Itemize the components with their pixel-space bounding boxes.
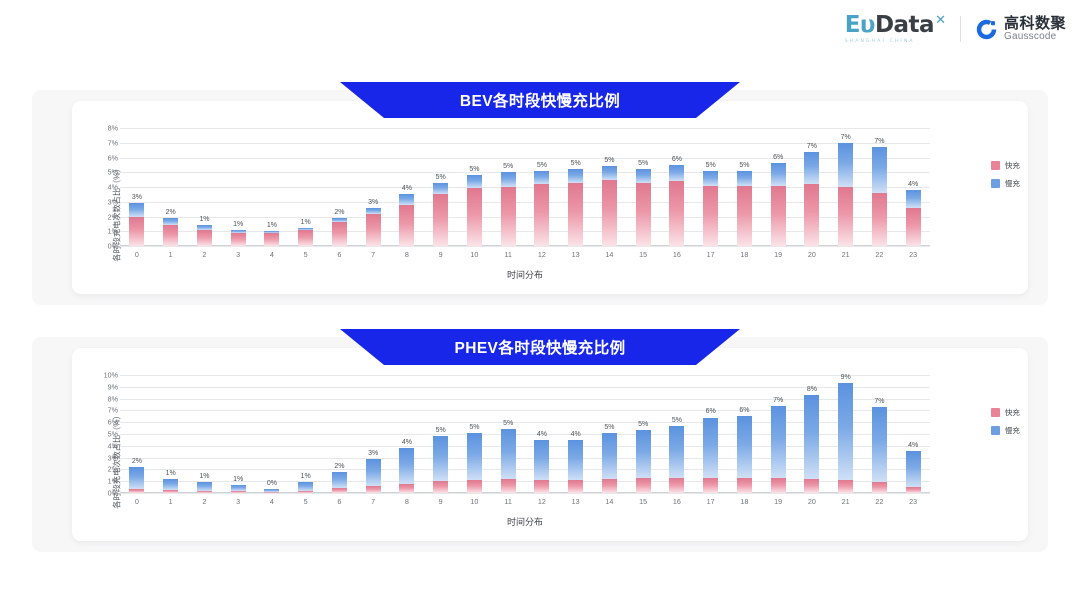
bar-column[interactable]: 3% <box>120 128 154 246</box>
x-tick-label: 9 <box>424 250 458 259</box>
bar-segment-fast-charge <box>332 222 347 246</box>
bar-value-label: 7% <box>874 398 884 405</box>
stacked-bar[interactable]: 6% <box>737 416 752 493</box>
evdata-x-icon: ✕ <box>935 13 946 26</box>
bar-column[interactable]: 7% <box>795 128 829 246</box>
bar-segment-fast-charge <box>636 478 651 493</box>
y-tick-label: 4% <box>108 441 118 450</box>
stacked-bar[interactable]: 0% <box>264 489 279 493</box>
x-tick-label: 22 <box>863 497 897 506</box>
bar-segment-slow-charge <box>906 190 921 208</box>
stacked-bar[interactable]: 2% <box>163 218 178 246</box>
bev-chart: 各时段充电次数占比（%） 0%1%2%3%4%5%6%7%8% 3%2%1%1%… <box>32 120 1048 305</box>
bar-value-label: 4% <box>402 439 412 446</box>
bar-value-label: 4% <box>908 181 918 188</box>
x-tick-label: 11 <box>491 250 525 259</box>
x-tick-label: 12 <box>525 250 559 259</box>
bar-segment-fast-charge <box>534 480 549 493</box>
bar-column[interactable]: 5% <box>458 375 492 493</box>
slow-charge-swatch-icon <box>991 179 1000 188</box>
bar-segment-fast-charge <box>703 478 718 493</box>
bar-column[interactable]: 0% <box>255 375 289 493</box>
bar-column[interactable]: 5% <box>559 128 593 246</box>
bar-segment-slow-charge <box>568 169 583 182</box>
y-tick-label: 3% <box>108 453 118 462</box>
x-tick-label: 15 <box>626 497 660 506</box>
x-tick-label: 15 <box>626 250 660 259</box>
bar-column[interactable]: 4% <box>559 375 593 493</box>
bar-value-label: 4% <box>571 431 581 438</box>
bar-column[interactable]: 7% <box>761 375 795 493</box>
x-tick-label: 6 <box>323 497 357 506</box>
stacked-bar[interactable]: 1% <box>163 479 178 493</box>
bar-segment-fast-charge <box>332 488 347 493</box>
bar-segment-slow-charge <box>636 430 651 477</box>
bar-segment-fast-charge <box>737 478 752 493</box>
gausscode-logo: 高科数聚 Gausscode <box>975 16 1066 42</box>
stacked-bar[interactable]: 7% <box>838 143 853 246</box>
bar-segment-fast-charge <box>163 225 178 246</box>
bev-legend-label-slow: 慢充 <box>1005 178 1020 189</box>
bar-column[interactable]: 5% <box>424 128 458 246</box>
stacked-bar[interactable]: 6% <box>703 417 718 493</box>
bar-column[interactable]: 6% <box>660 128 694 246</box>
bar-segment-fast-charge <box>804 479 819 493</box>
bar-segment-fast-charge <box>669 181 684 246</box>
y-tick-label: 7% <box>108 406 118 415</box>
bar-segment-slow-charge <box>703 418 718 478</box>
bar-value-label: 5% <box>638 160 648 167</box>
bar-value-label: 8% <box>807 386 817 393</box>
bar-value-label: 1% <box>199 473 209 480</box>
x-tick-label: 17 <box>694 250 728 259</box>
bar-value-label: 5% <box>503 163 513 170</box>
bar-value-label: 6% <box>706 408 716 415</box>
bar-value-label: 3% <box>368 450 378 457</box>
x-tick-label: 23 <box>896 250 930 259</box>
x-tick-label: 3 <box>221 250 255 259</box>
bar-column[interactable]: 1% <box>255 128 289 246</box>
x-tick-label: 6 <box>323 250 357 259</box>
gridline <box>120 246 930 247</box>
phev-legend-label-slow-swatch <box>991 426 1000 435</box>
gausscode-text: 高科数聚 Gausscode <box>1004 16 1066 42</box>
y-tick-label: 4% <box>108 183 118 192</box>
stacked-bar[interactable]: 1% <box>298 482 313 493</box>
fast-charge-swatch-icon <box>991 408 1000 417</box>
bar-segment-fast-charge <box>467 480 482 493</box>
bar-column[interactable]: 9% <box>829 375 863 493</box>
bar-value-label: 3% <box>132 194 142 201</box>
bar-value-label: 4% <box>908 442 918 449</box>
stacked-bar[interactable]: 5% <box>501 172 516 246</box>
bar-column[interactable]: 4% <box>896 128 930 246</box>
bar-value-label: 5% <box>604 424 614 431</box>
bar-segment-fast-charge <box>771 186 786 246</box>
bar-column[interactable]: 4% <box>525 375 559 493</box>
y-tick-label: 0% <box>108 242 118 251</box>
evdata-wordmark-ev: Eυ <box>845 12 875 38</box>
phev-banner-title: PHEV各时段快慢充比例 <box>454 336 625 358</box>
bar-value-label: 6% <box>739 407 749 414</box>
stacked-bar[interactable]: 5% <box>534 171 549 246</box>
bar-segment-slow-charge <box>669 165 684 181</box>
bar-column[interactable]: 6% <box>694 375 728 493</box>
bar-column[interactable]: 6% <box>761 128 795 246</box>
bar-column[interactable]: 3% <box>356 128 390 246</box>
fast-charge-swatch-icon <box>991 161 1000 170</box>
bar-segment-fast-charge <box>163 490 178 493</box>
x-tick-label: 21 <box>829 250 863 259</box>
stacked-bar[interactable]: 3% <box>366 459 381 493</box>
phev-legend: 快充 慢充 <box>991 407 1020 436</box>
bar-column[interactable]: 1% <box>289 128 323 246</box>
x-tick-label: 22 <box>863 250 897 259</box>
bev-banner: BEV各时段快慢充比例 <box>340 82 740 118</box>
bar-segment-fast-charge <box>568 480 583 493</box>
bar-column[interactable]: 5% <box>593 128 627 246</box>
bar-value-label: 5% <box>638 421 648 428</box>
x-tick-label: 11 <box>491 497 525 506</box>
bar-value-label: 7% <box>874 138 884 145</box>
bev-legend-item-slow[interactable]: 慢充 <box>991 178 1020 189</box>
bar-segment-slow-charge <box>501 429 516 479</box>
bar-segment-slow-charge <box>636 169 651 182</box>
evdata-wordmark: EυData <box>845 14 934 37</box>
bar-value-label: 1% <box>233 476 243 483</box>
stacked-bar[interactable]: 3% <box>366 208 381 246</box>
bar-segment-fast-charge <box>501 187 516 246</box>
bar-segment-fast-charge <box>669 478 684 493</box>
bar-column[interactable]: 7% <box>829 128 863 246</box>
bar-value-label: 9% <box>841 374 851 381</box>
x-tick-label: 13 <box>559 497 593 506</box>
bar-value-label: 5% <box>469 424 479 431</box>
gausscode-name-en: Gausscode <box>1004 32 1066 43</box>
bar-segment-fast-charge <box>804 184 819 246</box>
x-tick-label: 0 <box>120 497 154 506</box>
stacked-bar[interactable]: 5% <box>433 436 448 493</box>
bev-legend-label-fast: 快充 <box>1005 160 1020 171</box>
stacked-bar[interactable]: 7% <box>771 406 786 493</box>
bar-value-label: 5% <box>706 162 716 169</box>
bar-value-label: 4% <box>537 431 547 438</box>
bar-column[interactable]: 5% <box>660 375 694 493</box>
stacked-bar[interactable]: 5% <box>737 171 752 246</box>
bar-value-label: 5% <box>469 166 479 173</box>
bar-column[interactable]: 5% <box>491 375 525 493</box>
bar-segment-fast-charge <box>264 233 279 246</box>
bar-segment-fast-charge <box>231 491 246 493</box>
stacked-bar[interactable]: 7% <box>872 407 887 493</box>
phev-legend-item-slow[interactable]: 慢充 <box>991 425 1020 436</box>
y-tick-label: 6% <box>108 153 118 162</box>
bar-segment-slow-charge <box>804 395 819 479</box>
stacked-bar[interactable]: 1% <box>231 485 246 493</box>
x-tick-label: 12 <box>525 497 559 506</box>
phev-legend-label-fast: 快充 <box>1005 407 1020 418</box>
bar-column[interactable]: 8% <box>795 375 829 493</box>
bar-segment-slow-charge <box>602 166 617 179</box>
phev-plot-area: 0%1%2%3%4%5%6%7%8%9%10% 2%1%1%1%0%1%2%3%… <box>120 375 930 493</box>
bar-segment-fast-charge <box>298 230 313 246</box>
stacked-bar[interactable]: 5% <box>433 183 448 246</box>
bar-value-label: 5% <box>436 427 446 434</box>
bar-segment-slow-charge <box>433 436 448 481</box>
bar-value-label: 1% <box>301 219 311 226</box>
stacked-bar[interactable]: 9% <box>838 383 853 493</box>
x-tick-label: 3 <box>221 497 255 506</box>
x-tick-label: 10 <box>458 497 492 506</box>
phev-x-axis-label: 时间分布 <box>120 515 930 528</box>
bar-column[interactable]: 5% <box>424 375 458 493</box>
x-tick-label: 17 <box>694 497 728 506</box>
bar-segment-fast-charge <box>231 233 246 246</box>
stacked-bar[interactable]: 4% <box>534 440 549 493</box>
stacked-bar[interactable]: 6% <box>669 165 684 246</box>
bar-column[interactable]: 6% <box>728 375 762 493</box>
x-tick-label: 23 <box>896 497 930 506</box>
bar-value-label: 2% <box>166 209 176 216</box>
y-tick-label: 0% <box>108 489 118 498</box>
bar-value-label: 7% <box>773 397 783 404</box>
bar-column[interactable]: 4% <box>896 375 930 493</box>
bar-segment-fast-charge <box>568 183 583 246</box>
stacked-bar[interactable]: 1% <box>231 230 246 246</box>
bar-segment-slow-charge <box>467 175 482 188</box>
bar-segment-slow-charge <box>737 171 752 186</box>
bar-column[interactable]: 5% <box>626 375 660 493</box>
x-tick-label: 21 <box>829 497 863 506</box>
bar-column[interactable]: 1% <box>289 375 323 493</box>
brand-header: EυData ✕ SHANGHAI CHINA 高科数聚 Gausscode <box>845 14 1066 45</box>
x-tick-label: 9 <box>424 497 458 506</box>
bar-segment-slow-charge <box>737 416 752 477</box>
x-tick-label: 18 <box>728 250 762 259</box>
x-tick-label: 18 <box>728 497 762 506</box>
bar-column[interactable]: 5% <box>626 128 660 246</box>
bar-column[interactable]: 1% <box>154 375 188 493</box>
bar-segment-slow-charge <box>163 479 178 490</box>
stacked-bar[interactable]: 5% <box>636 169 651 246</box>
bar-column[interactable]: 1% <box>221 375 255 493</box>
bar-segment-slow-charge <box>366 459 381 486</box>
x-tick-label: 5 <box>289 497 323 506</box>
bar-segment-slow-charge <box>703 171 718 186</box>
stacked-bar[interactable]: 4% <box>568 440 583 493</box>
bar-segment-slow-charge <box>467 433 482 480</box>
phev-legend-label-slow: 慢充 <box>1005 425 1020 436</box>
bar-segment-slow-charge <box>568 440 583 480</box>
y-tick-label: 2% <box>108 212 118 221</box>
bar-column[interactable]: 7% <box>863 375 897 493</box>
x-tick-label: 20 <box>795 250 829 259</box>
brand-divider <box>960 16 961 42</box>
stacked-bar[interactable]: 5% <box>703 171 718 246</box>
y-tick-label: 7% <box>108 138 118 147</box>
bar-value-label: 1% <box>233 221 243 228</box>
bar-column[interactable]: 4% <box>390 128 424 246</box>
bar-value-label: 5% <box>436 174 446 181</box>
y-tick-label: 8% <box>108 394 118 403</box>
stacked-bar[interactable]: 6% <box>771 163 786 246</box>
bar-segment-slow-charge <box>399 448 414 483</box>
bar-column[interactable]: 5% <box>458 128 492 246</box>
bar-value-label: 7% <box>807 143 817 150</box>
x-tick-label: 13 <box>559 250 593 259</box>
y-tick-label: 8% <box>108 124 118 133</box>
x-tick-label: 10 <box>458 250 492 259</box>
y-tick-label: 5% <box>108 430 118 439</box>
bar-segment-slow-charge <box>872 407 887 483</box>
bar-segment-fast-charge <box>872 482 887 493</box>
bar-segment-slow-charge <box>906 451 921 488</box>
phev-banner: PHEV各时段快慢充比例 <box>340 329 740 365</box>
stacked-bar[interactable]: 5% <box>636 430 651 493</box>
bev-bar-group: 3%2%1%1%1%1%2%3%4%5%5%5%5%5%5%5%6%5%5%6%… <box>120 128 930 246</box>
x-tick-label: 4 <box>255 250 289 259</box>
y-tick-label: 1% <box>108 227 118 236</box>
bev-x-axis-label: 时间分布 <box>120 268 930 281</box>
bar-value-label: 2% <box>132 458 142 465</box>
bar-segment-slow-charge <box>197 482 212 490</box>
stacked-bar[interactable]: 7% <box>804 152 819 246</box>
bar-column[interactable]: 5% <box>491 128 525 246</box>
section-bev: BEV各时段快慢充比例 各时段充电次数占比（%） 0%1%2%3%4%5%6%7… <box>32 90 1048 305</box>
stacked-bar[interactable]: 3% <box>129 203 144 246</box>
bar-column[interactable]: 2% <box>120 375 154 493</box>
bar-column[interactable]: 5% <box>593 375 627 493</box>
bev-legend: 快充 慢充 <box>991 160 1020 189</box>
x-tick-label: 20 <box>795 497 829 506</box>
y-tick-label: 10% <box>104 371 118 380</box>
bar-segment-slow-charge <box>298 482 313 491</box>
bar-segment-slow-charge <box>771 163 786 185</box>
bar-column[interactable]: 5% <box>728 128 762 246</box>
bar-value-label: 5% <box>604 157 614 164</box>
stacked-bar[interactable]: 1% <box>298 228 313 246</box>
stacked-bar[interactable]: 4% <box>399 194 414 246</box>
bar-column[interactable]: 2% <box>323 128 357 246</box>
bar-value-label: 6% <box>672 156 682 163</box>
bar-value-label: 5% <box>739 162 749 169</box>
bar-segment-slow-charge <box>129 467 144 489</box>
stacked-bar[interactable]: 1% <box>197 482 212 493</box>
x-tick-label: 14 <box>593 497 627 506</box>
stacked-bar[interactable]: 5% <box>602 166 617 246</box>
bar-segment-fast-charge <box>872 193 887 246</box>
bar-column[interactable]: 2% <box>154 128 188 246</box>
bar-segment-slow-charge <box>534 171 549 184</box>
bev-legend-item-fast[interactable]: 快充 <box>991 160 1020 171</box>
stacked-bar[interactable]: 5% <box>467 433 482 493</box>
bar-segment-fast-charge <box>906 208 921 246</box>
bar-segment-fast-charge <box>366 214 381 246</box>
x-tick-label: 8 <box>390 250 424 259</box>
stacked-bar[interactable]: 5% <box>568 169 583 246</box>
bar-column[interactable]: 5% <box>525 128 559 246</box>
stacked-bar[interactable]: 5% <box>467 175 482 246</box>
bar-segment-slow-charge <box>804 152 819 184</box>
bar-column[interactable]: 1% <box>188 128 222 246</box>
bar-segment-slow-charge <box>771 406 786 478</box>
bar-column[interactable]: 5% <box>694 128 728 246</box>
bar-column[interactable]: 2% <box>323 375 357 493</box>
bar-value-label: 4% <box>402 185 412 192</box>
evdata-tagline: SHANGHAI CHINA <box>845 40 915 45</box>
stacked-bar[interactable]: 2% <box>332 218 347 246</box>
evdata-logo-row: EυData ✕ <box>845 14 946 37</box>
bar-value-label: 2% <box>334 209 344 216</box>
stacked-bar[interactable]: 1% <box>264 231 279 246</box>
bar-column[interactable]: 7% <box>863 128 897 246</box>
bar-segment-slow-charge <box>399 194 414 204</box>
stacked-bar[interactable]: 7% <box>872 147 887 246</box>
bar-segment-fast-charge <box>298 491 313 493</box>
bar-value-label: 6% <box>773 154 783 161</box>
bar-segment-fast-charge <box>771 478 786 493</box>
phev-bar-group: 2%1%1%1%0%1%2%3%4%5%5%5%4%4%5%5%5%6%6%7%… <box>120 375 930 493</box>
bar-segment-fast-charge <box>906 487 921 493</box>
x-tick-label: 4 <box>255 497 289 506</box>
stacked-bar[interactable]: 2% <box>332 472 347 493</box>
x-tick-label: 5 <box>289 250 323 259</box>
bar-segment-fast-charge <box>602 180 617 246</box>
y-tick-label: 6% <box>108 418 118 427</box>
bar-value-label: 3% <box>368 199 378 206</box>
bar-value-label: 5% <box>503 420 513 427</box>
bar-value-label: 5% <box>571 160 581 167</box>
bev-banner-title: BEV各时段快慢充比例 <box>460 89 620 111</box>
stacked-bar[interactable]: 5% <box>602 433 617 493</box>
phev-legend-item-fast[interactable]: 快充 <box>991 407 1020 418</box>
phev-y-ticks: 0%1%2%3%4%5%6%7%8%9%10% <box>94 375 118 493</box>
stacked-bar[interactable]: 5% <box>501 429 516 493</box>
bar-value-label: 5% <box>537 162 547 169</box>
bar-column[interactable]: 1% <box>221 128 255 246</box>
stacked-bar[interactable]: 1% <box>197 225 212 246</box>
stacked-bar[interactable]: 4% <box>906 451 921 493</box>
x-tick-label: 7 <box>356 250 390 259</box>
x-tick-label: 1 <box>154 497 188 506</box>
bar-segment-fast-charge <box>501 479 516 493</box>
stacked-bar[interactable]: 4% <box>399 448 414 493</box>
bar-value-label: 2% <box>334 463 344 470</box>
bar-column[interactable]: 1% <box>188 375 222 493</box>
stacked-bar[interactable]: 8% <box>804 395 819 493</box>
bar-segment-fast-charge <box>433 481 448 493</box>
bar-segment-slow-charge <box>838 143 853 187</box>
gausscode-mark-icon <box>975 18 998 41</box>
bar-column[interactable]: 4% <box>390 375 424 493</box>
bar-segment-slow-charge <box>332 472 347 489</box>
stacked-bar[interactable]: 4% <box>906 190 921 246</box>
x-tick-label: 16 <box>660 250 694 259</box>
bar-segment-fast-charge <box>129 489 144 493</box>
bar-value-label: 5% <box>672 417 682 424</box>
x-tick-label: 2 <box>188 497 222 506</box>
x-tick-label: 0 <box>120 250 154 259</box>
stacked-bar[interactable]: 5% <box>669 426 684 493</box>
bar-segment-fast-charge <box>264 492 279 493</box>
bar-column[interactable]: 3% <box>356 375 390 493</box>
phev-x-ticks: 01234567891011121314151617181920212223 <box>120 497 930 506</box>
bar-segment-slow-charge <box>501 172 516 187</box>
bar-segment-fast-charge <box>399 484 414 493</box>
bar-segment-fast-charge <box>129 217 144 246</box>
bar-value-label: 1% <box>267 222 277 229</box>
stacked-bar[interactable]: 2% <box>129 467 144 493</box>
